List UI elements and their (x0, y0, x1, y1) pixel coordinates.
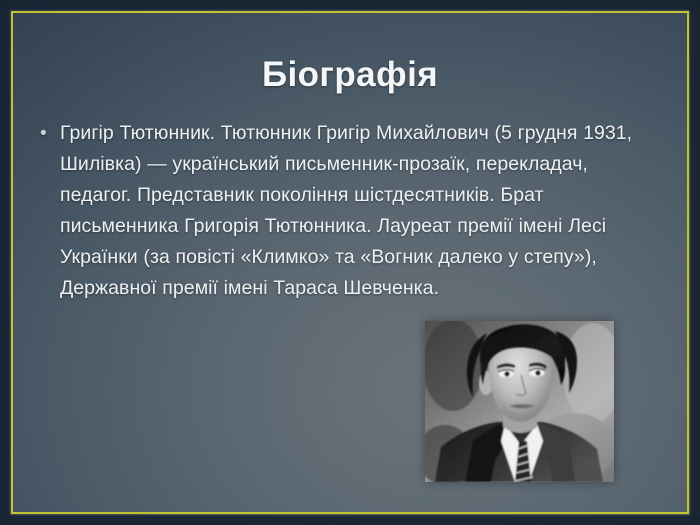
page-title: Біографія (0, 54, 700, 96)
bullet-list-item: • Григір Тютюнник. Тютюнник Григір Михай… (36, 118, 652, 304)
portrait-photo (425, 321, 614, 482)
presentation-slide: Біографія • Григір Тютюнник. Тютюнник Гр… (0, 0, 700, 525)
biography-paragraph: Григір Тютюнник. Тютюнник Григір Михайло… (60, 118, 652, 304)
portrait-photo-image (425, 321, 614, 482)
bullet-point-icon: • (36, 118, 60, 149)
